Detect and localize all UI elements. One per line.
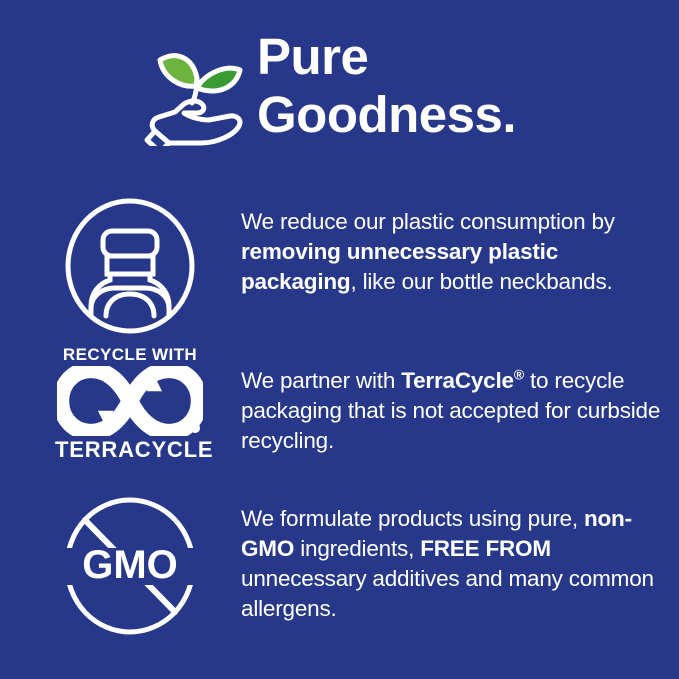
text-segment-bold: FREE FROM [420,536,551,561]
recycle-infinity-icon [57,366,203,436]
bottle-neckband-circle-icon [55,196,205,336]
feature-text-terracycle: We partner with TerraCycle® to recycle p… [205,346,665,456]
feature-text-plastic-reduction: We reduce our plastic consumption by rem… [205,196,665,297]
text-segment: ingredients, [294,536,420,561]
page-title: Pure Goodness. [257,28,516,144]
feature-row-non-gmo: GMO We formulate products using pure, no… [55,496,665,636]
promo-panel: Pure Goodness. We reduce our plastic con… [0,0,679,679]
feature-text-non-gmo: We formulate products using pure, non-GM… [205,496,665,624]
text-segment-bold: TerraCycle® [401,368,524,393]
terracycle-top-label: RECYCLE WITH [55,346,205,363]
text-segment: We formulate products using pure, [241,506,584,531]
hand-holding-sprout-icon [143,34,249,146]
gmo-label: GMO [82,543,178,587]
brand-lockup: Pure Goodness. [143,28,516,146]
text-segment: , like our bottle neckbands. [350,269,612,294]
terracycle-brand-name: TerraCycle [401,368,514,393]
text-segment: unnecessary additives and many common al… [241,566,654,621]
text-segment: We reduce our plastic consumption by [241,209,615,234]
no-gmo-icon: GMO [55,496,205,636]
terracycle-badge: RECYCLE WITH TERRACYCLE [55,346,205,461]
terracycle-logo: RECYCLE WITH TERRACYCLE [55,346,205,461]
feature-row-terracycle: RECYCLE WITH TERRACYCLE We partner with … [55,346,665,461]
registered-trademark-icon: ® [514,367,524,383]
terracycle-bottom-label: TERRACYCLE [55,439,205,461]
feature-row-plastic-reduction: We reduce our plastic consumption by rem… [55,196,665,336]
text-segment: We partner with [241,368,401,393]
